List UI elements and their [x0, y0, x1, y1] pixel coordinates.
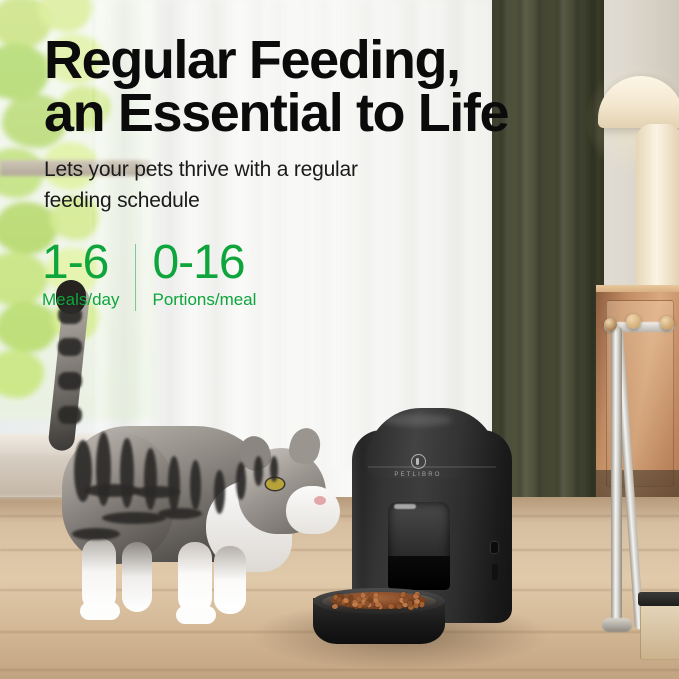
cat-leg-front	[178, 542, 212, 614]
cat-stripe	[214, 470, 225, 514]
cat-nose	[314, 496, 326, 505]
cat-muzzle	[286, 486, 340, 534]
feeder-power-port	[491, 542, 498, 553]
cat-illustration	[38, 280, 348, 610]
cat-stripe	[72, 528, 120, 540]
feeder-chute-opening	[388, 556, 450, 590]
marketing-copy: Regular Feeding, an Essential to Life Le…	[44, 34, 604, 216]
cat-stripe	[236, 462, 246, 500]
stat-label: Portions/meal	[152, 289, 256, 311]
cat-stripe	[168, 456, 180, 512]
cabinet-knob	[626, 314, 641, 329]
feeder-vent-slot	[492, 564, 498, 580]
chrome-pole-base	[602, 618, 632, 632]
stat-portions-per-meal: 0-16 Portions/meal	[152, 238, 256, 311]
brand-logo: PETLIBRO	[382, 454, 454, 478]
pet-food-bowl	[313, 588, 445, 644]
stat-value: 0-16	[152, 238, 256, 288]
kibble-piece	[387, 603, 394, 609]
cat-stripe	[158, 508, 202, 519]
subheadline: Lets your pets thrive with a regular fee…	[44, 154, 604, 216]
cat-stripe	[120, 438, 134, 508]
stat-divider	[135, 244, 136, 311]
kibble-mound	[331, 592, 427, 609]
cat-paw-1	[80, 602, 120, 620]
product-marketing-image: PETLIBRO Regular Feeding, an Essential t…	[0, 0, 679, 679]
cat-leg-front2	[214, 546, 246, 614]
brand-wordmark: PETLIBRO	[382, 472, 454, 478]
cat-tail-ring	[58, 372, 82, 390]
floor-storage-box-lid	[638, 592, 679, 606]
kibble-piece	[414, 599, 420, 604]
cat-tail-ring	[58, 338, 82, 356]
feeder-highlight	[382, 414, 452, 426]
cat-stripe	[144, 448, 157, 510]
table-lamp-body	[636, 124, 679, 294]
floor-storage-box	[640, 600, 679, 660]
spec-stats: 1-6 Meals/day 0-16 Portions/meal	[42, 238, 256, 311]
floor-plank-seam	[0, 669, 679, 671]
cat-tail-ring	[58, 406, 82, 424]
headline-line-2: an Essential to Life	[44, 83, 508, 143]
cat-stripe	[102, 512, 166, 524]
chrome-pole	[611, 326, 622, 626]
cabinet-knob	[604, 318, 617, 331]
cat-stripe	[134, 486, 180, 498]
cat-leg-rear2	[122, 542, 152, 612]
feeder-chute-highlight	[394, 504, 416, 509]
kibble-piece	[407, 601, 412, 607]
stat-meals-per-day: 1-6 Meals/day	[42, 238, 119, 311]
cat-paw-2	[176, 606, 216, 624]
stat-label: Meals/day	[42, 289, 119, 311]
page-title: Regular Feeding, an Essential to Life	[44, 34, 604, 140]
cabinet-knob	[660, 316, 674, 330]
cat-stripe	[190, 460, 201, 510]
subheadline-line-2: feeding schedule	[44, 189, 200, 212]
kibble-piece	[352, 602, 358, 607]
stat-value: 1-6	[42, 238, 119, 288]
cat-leg-rear	[82, 538, 116, 612]
cat-stripe	[84, 484, 140, 497]
cat-stripe	[270, 456, 278, 482]
cat-stripe	[254, 456, 263, 486]
petlibro-droplet-icon	[411, 454, 426, 469]
headline-line-1: Regular Feeding,	[44, 30, 460, 90]
subheadline-line-1: Lets your pets thrive with a regular	[44, 158, 358, 181]
